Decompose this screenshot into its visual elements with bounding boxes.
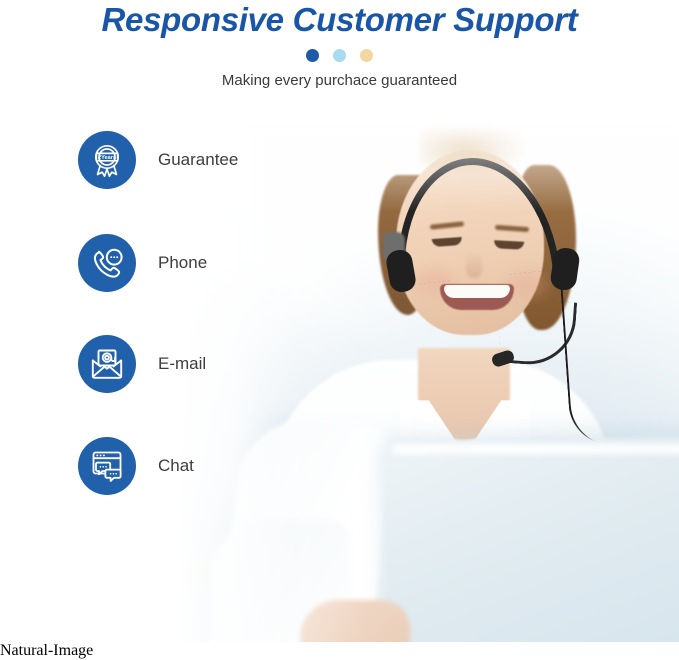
feature-label-phone: Phone xyxy=(158,253,207,273)
dot-tan[interactable] xyxy=(360,49,373,62)
feature-item-email[interactable]: E-mail xyxy=(78,335,206,393)
feature-label-email: E-mail xyxy=(158,354,206,374)
feature-item-guarantee[interactable]: 2Years Guarantee xyxy=(78,131,238,189)
feature-item-phone[interactable]: Phone xyxy=(78,234,207,292)
dot-light-blue[interactable] xyxy=(333,49,346,62)
carousel-dots[interactable] xyxy=(0,49,679,62)
page-subtitle: Making every purchace guaranteed xyxy=(0,72,679,89)
feature-label-guarantee: Guarantee xyxy=(158,150,238,170)
chat-window-icon xyxy=(78,437,136,495)
promo-banner: Responsive Customer Support Making every… xyxy=(0,0,679,642)
page-title: Responsive Customer Support xyxy=(0,0,679,40)
svg-text:2Years: 2Years xyxy=(98,155,116,161)
email-envelope-icon xyxy=(78,335,136,393)
feature-label-chat: Chat xyxy=(158,456,194,476)
dot-active[interactable] xyxy=(306,49,319,62)
phone-support-icon xyxy=(78,234,136,292)
feature-item-chat[interactable]: Chat xyxy=(78,437,194,495)
warranty-badge-icon: 2Years xyxy=(78,131,136,189)
